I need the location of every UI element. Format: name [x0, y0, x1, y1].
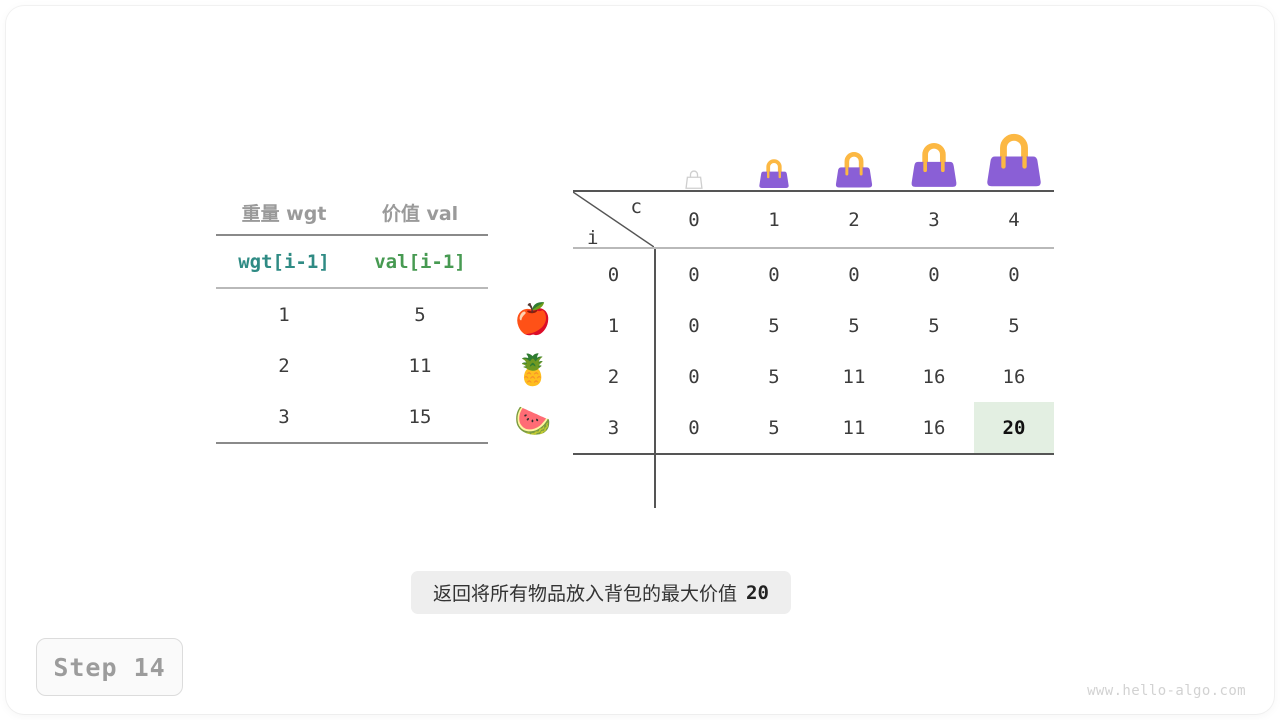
step-badge-label: Step 14: [53, 653, 165, 682]
table-row: 0 0 0 0 0 0: [573, 249, 1054, 300]
item-value-1: 5: [352, 304, 488, 326]
dp-cell-2-3: 16: [894, 351, 974, 402]
caption-text: 返回将所有物品放入背包的最大价值: [433, 579, 737, 606]
step-badge: Step 14: [36, 638, 183, 696]
table-row: 2 0 5 11 16 16: [573, 351, 1054, 402]
bag-capacity-1: [734, 156, 814, 190]
watermelon-icon: 🍉: [505, 396, 561, 447]
dp-table: c i 0 1 2 3 4 0 0 0 0 0 0 1 0: [573, 190, 1054, 455]
dp-cell-0-4: 0: [974, 249, 1054, 300]
caption-value: 20: [746, 582, 769, 604]
bag-outline-icon: [683, 168, 705, 190]
bag-capacity-2: [814, 148, 894, 190]
table-row: 1 0 5 5 5 5: [573, 300, 1054, 351]
dp-table-header-row: c i 0 1 2 3 4: [573, 192, 1054, 247]
dp-cell-2-4: 16: [974, 351, 1054, 402]
dp-cell-1-4: 5: [974, 300, 1054, 351]
dp-cell-1-2: 5: [814, 300, 894, 351]
dp-corner-cell: c i: [573, 192, 654, 247]
items-table-rule-bottom: [216, 442, 488, 444]
illustration-canvas: 重量 wgt 价值 val wgt[i-1] val[i-1] 1 5 2 11…: [0, 0, 1280, 720]
dp-cell-3-1: 5: [734, 402, 814, 453]
items-table-subheader-row: wgt[i-1] val[i-1]: [216, 236, 488, 287]
table-row: 1 5: [216, 289, 488, 340]
bag-capacity-3: [894, 138, 974, 190]
fruit-icon-column: 🍎 🍍 🍉: [505, 294, 561, 447]
dp-col-header-2: 2: [814, 192, 894, 247]
bag-capacity-0: [654, 168, 734, 190]
bag-capacity-4: [974, 128, 1054, 190]
dp-cell-0-2: 0: [814, 249, 894, 300]
dp-col-header-1: 1: [734, 192, 814, 247]
items-header-weight: 重量 wgt: [216, 199, 352, 226]
items-table: 重量 wgt 价值 val wgt[i-1] val[i-1] 1 5 2 11…: [216, 190, 488, 444]
item-value-2: 11: [352, 355, 488, 377]
dp-cell-2-2: 11: [814, 351, 894, 402]
dp-cell-0-1: 0: [734, 249, 814, 300]
table-row: 3 0 5 11 16 20: [573, 402, 1054, 453]
dp-row-header-0: 0: [573, 264, 654, 286]
dp-col-header-4: 4: [974, 192, 1054, 247]
dp-row-header-3: 3: [573, 417, 654, 439]
dp-cell-3-4-highlighted: 20: [974, 402, 1054, 453]
table-row: 2 11: [216, 340, 488, 391]
items-subheader-val: val[i-1]: [352, 251, 488, 273]
item-value-3: 15: [352, 406, 488, 428]
dp-cell-0-0: 0: [654, 249, 734, 300]
table-row: 3 15: [216, 391, 488, 442]
item-weight-2: 2: [216, 355, 352, 377]
bag-icon: [757, 156, 791, 190]
items-table-header-row: 重量 wgt 价值 val: [216, 190, 488, 234]
dp-col-axis-label: c: [631, 196, 642, 218]
bag-capacity-row: [654, 118, 1054, 190]
dp-row-header-1: 1: [573, 315, 654, 337]
bag-icon: [983, 128, 1045, 190]
watermark: www.hello-algo.com: [1087, 683, 1246, 699]
dp-cell-1-3: 5: [894, 300, 974, 351]
dp-cell-1-1: 5: [734, 300, 814, 351]
dp-cell-2-1: 5: [734, 351, 814, 402]
dp-cell-3-2: 11: [814, 402, 894, 453]
items-subheader-wgt: wgt[i-1]: [216, 251, 352, 273]
dp-col-header-3: 3: [894, 192, 974, 247]
dp-row-axis-label: i: [587, 227, 598, 249]
dp-cell-2-0: 0: [654, 351, 734, 402]
dp-col-header-0: 0: [654, 192, 734, 247]
bag-icon: [833, 148, 875, 190]
dp-table-rule-bottom: [573, 453, 1054, 455]
pineapple-icon: 🍍: [505, 345, 561, 396]
dp-cell-3-0: 0: [654, 402, 734, 453]
apple-icon: 🍎: [505, 294, 561, 345]
caption-banner: 返回将所有物品放入背包的最大价值 20: [411, 571, 791, 614]
bag-icon: [908, 138, 960, 190]
dp-cell-0-3: 0: [894, 249, 974, 300]
dp-cell-1-0: 0: [654, 300, 734, 351]
dp-cell-3-3: 16: [894, 402, 974, 453]
items-header-value: 价值 val: [352, 199, 488, 226]
dp-row-header-2: 2: [573, 366, 654, 388]
item-weight-1: 1: [216, 304, 352, 326]
item-weight-3: 3: [216, 406, 352, 428]
